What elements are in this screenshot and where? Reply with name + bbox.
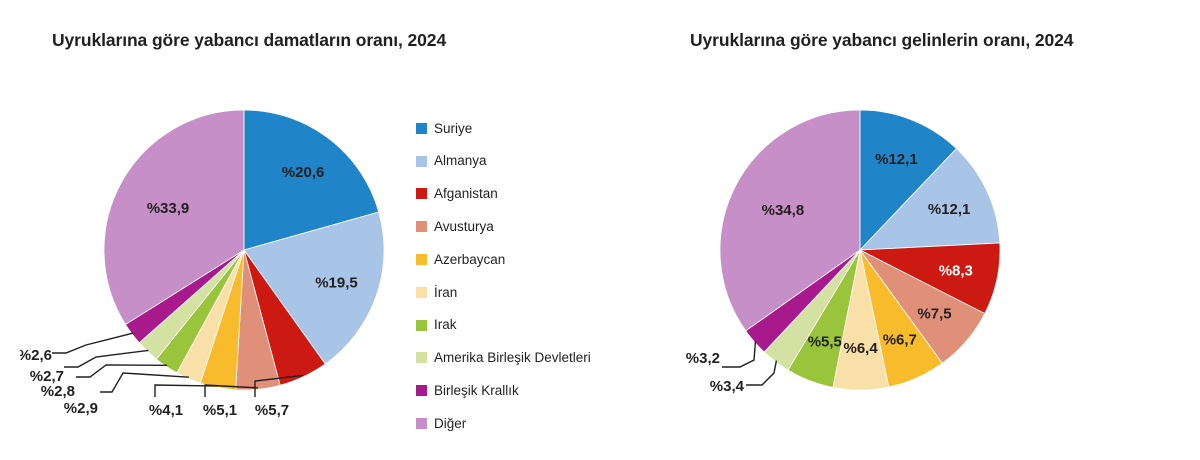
legend-item-label: Azerbaycan [434, 253, 505, 267]
pie-data-label: %5,1 [203, 402, 237, 419]
legend-item-label: İran [434, 286, 457, 300]
pie-label-leader-line [100, 373, 189, 392]
pie-data-label: %6,7 [883, 332, 917, 349]
pie-svg-brides: %12,1%12,1%8,3%7,5%6,7%6,4%5,5%34,8%3,4%… [670, 85, 1040, 445]
legend-item[interactable]: İran [416, 276, 591, 309]
pie-data-label: %6,4 [843, 340, 878, 357]
pie-label-leader-line [52, 333, 133, 353]
pie-label-leader-line [746, 361, 776, 385]
pie-data-label: %34,8 [762, 202, 805, 219]
legend-item[interactable]: Suriye [416, 112, 591, 145]
pie-data-label: %5,5 [808, 334, 842, 351]
pie-svg-grooms: %20,6%19,5%33,9%5,7%5,1%4,1%2,9%2,8%2,7%… [20, 85, 410, 445]
page-title-grooms: Uyruklarına göre yabancı damatların oran… [52, 30, 446, 51]
legend-item[interactable]: Azerbaycan [416, 243, 591, 276]
legend-item[interactable]: Almanya [416, 145, 591, 178]
pie-data-label: %5,7 [255, 402, 289, 419]
page-title-brides: Uyruklarına göre yabancı gelinlerin oran… [690, 30, 1073, 51]
pie-data-label: %2,6 [20, 347, 52, 364]
legend-swatch-icon [416, 287, 427, 298]
legend-item-label: Amerika Birleşik Devletleri [434, 351, 591, 365]
legend-swatch-icon [416, 320, 427, 331]
chart-panel-grooms: Uyruklarına göre yabancı damatların oran… [0, 0, 640, 460]
pie-data-label: %2,7 [30, 368, 64, 385]
pie-data-label: %3,4 [710, 378, 745, 395]
legend-item-label: Avusturya [434, 220, 494, 234]
pie-label-leader-line [155, 385, 218, 397]
legend-item-label: Afganistan [434, 187, 498, 201]
legend-swatch-icon [416, 221, 427, 232]
pie-chart-brides: %12,1%12,1%8,3%7,5%6,7%6,4%5,5%34,8%3,4%… [670, 85, 1040, 445]
pie-data-label: %20,6 [282, 164, 325, 181]
legend-item-label: Suriye [434, 122, 472, 136]
pie-data-label: %2,8 [41, 383, 75, 400]
pie-data-label: %2,9 [64, 400, 98, 417]
pie-data-label: %12,1 [875, 151, 918, 168]
legend-swatch-icon [416, 123, 427, 134]
legend-swatch-icon [416, 352, 427, 363]
legend-item[interactable]: Irak [416, 309, 591, 342]
chart-panel-brides: Uyruklarına göre yabancı gelinlerin oran… [640, 0, 1200, 460]
legend-swatch-icon [416, 188, 427, 199]
legend-item[interactable]: Amerika Birleşik Devletleri [416, 342, 591, 375]
legend-grooms: SuriyeAlmanyaAfganistanAvusturyaAzerbayc… [416, 112, 591, 440]
pie-data-label: %4,1 [149, 402, 183, 419]
legend-item[interactable]: Diğer [416, 407, 591, 440]
pie-label-leader-line [722, 341, 756, 367]
pie-chart-grooms: %20,6%19,5%33,9%5,7%5,1%4,1%2,9%2,8%2,7%… [20, 85, 410, 445]
legend-swatch-icon [416, 385, 427, 396]
legend-item[interactable]: Afganistan [416, 178, 591, 211]
pie-data-label: %12,1 [928, 201, 971, 218]
pie-data-label: %8,3 [939, 263, 973, 280]
legend-item[interactable]: Avusturya [416, 210, 591, 243]
legend-item-label: Diğer [434, 417, 466, 431]
legend-swatch-icon [416, 254, 427, 265]
legend-item-label: Irak [434, 318, 457, 332]
pie-data-label: %33,9 [147, 200, 190, 217]
pie-data-label: %3,2 [686, 350, 720, 367]
legend-swatch-icon [416, 418, 427, 429]
pie-data-label: %7,5 [917, 306, 951, 323]
pie-data-label: %19,5 [315, 275, 358, 292]
legend-item-label: Birleşik Krallık [434, 384, 519, 398]
legend-item[interactable]: Birleşik Krallık [416, 374, 591, 407]
legend-swatch-icon [416, 156, 427, 167]
legend-item-label: Almanya [434, 154, 487, 168]
